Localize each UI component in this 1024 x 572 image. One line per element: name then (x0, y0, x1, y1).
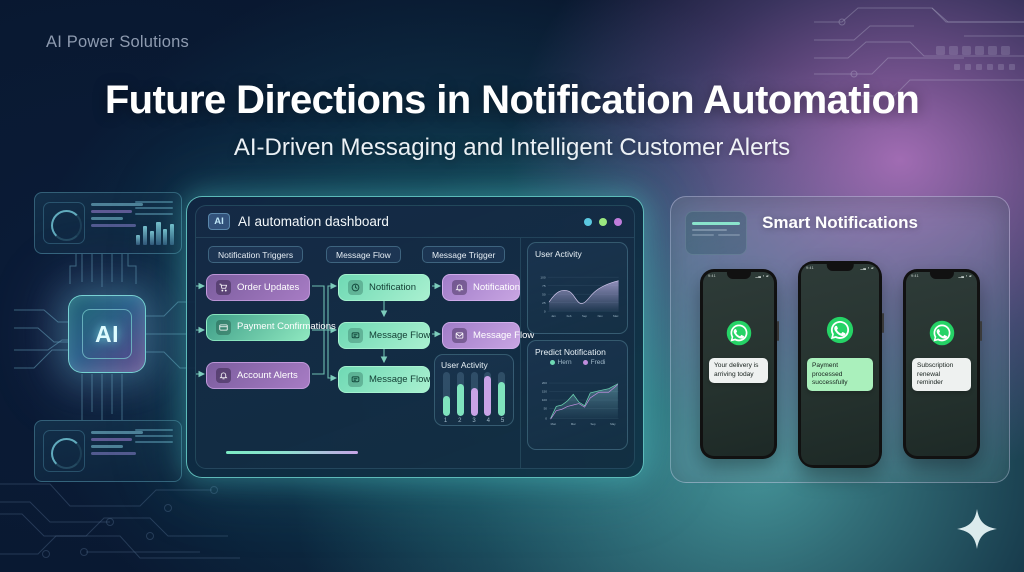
phone-mockup-3: 9:41 ▁▃ ◗ ▰ Subscription renewal reminde… (903, 269, 980, 459)
svg-text:100: 100 (542, 398, 547, 402)
charts-column: User Activity 10075 50250 (520, 238, 634, 468)
node-label: Notification (473, 282, 520, 293)
svg-text:25: 25 (542, 301, 546, 305)
legend-label: Fredi (591, 359, 606, 366)
svg-text:0: 0 (545, 417, 547, 421)
page-title: Future Directions in Notification Automa… (0, 78, 1024, 123)
ai-chip-inner: AI (82, 309, 132, 359)
phone-mockup-1: 9:41 ▁▃ ◗ ▰ Your delivery is arriving to… (700, 269, 777, 459)
phone-mockup-group: 9:41 ▁▃ ◗ ▰ Your delivery is arriving to… (671, 269, 1009, 468)
chat-bubble-icon (348, 328, 363, 343)
four-point-star-icon (956, 508, 998, 550)
analytics-mini-panel-bottom (34, 420, 182, 482)
node-label: Payment Confirmations (237, 322, 336, 333)
phone-screen: 9:41 ▁▃ ◗ ▰ Your delivery is arriving to… (703, 272, 774, 456)
dashboard-progress-bar[interactable] (226, 451, 358, 455)
shopping-cart-icon (216, 280, 231, 295)
list-lines (135, 429, 173, 447)
legend-swatch (550, 360, 555, 365)
chart-title: User Activity (441, 360, 507, 370)
status-time: 9:41 (708, 274, 716, 278)
status-icons: ▁▃ ◗ ▰ (860, 266, 874, 270)
text-line-row (692, 234, 740, 236)
phone-side-button (882, 313, 884, 333)
legend-swatch (583, 360, 588, 365)
envelope-icon (452, 328, 467, 343)
node-label: Message Flow (369, 330, 430, 341)
line-chart-plot: 200150 100500 (535, 367, 620, 443)
svg-text:Sep: Sep (591, 422, 596, 426)
chat-bubble-icon (348, 372, 363, 387)
svg-text:150: 150 (542, 390, 547, 394)
node-label: Notification (369, 282, 416, 293)
ai-processor-chip: AI (68, 295, 146, 373)
window-dot-2[interactable] (599, 218, 607, 226)
svg-text:200: 200 (542, 381, 547, 385)
chart-user-activity-bars: User Activity 1 2 3 4 (434, 354, 514, 426)
eyebrow-label: AI Power Solutions (46, 33, 189, 52)
svg-text:May: May (610, 422, 616, 426)
bar-track (484, 372, 491, 416)
bar-track-group (441, 372, 507, 416)
window-controls[interactable] (584, 218, 622, 226)
status-icons: ▁▃ ◗ ▰ (958, 274, 972, 278)
dashboard-body: Notification Triggers Message Flow Messa… (196, 238, 634, 468)
bar-x-labels: 1 2 3 4 5 (441, 416, 507, 424)
gauge-icon (43, 202, 85, 244)
column-header-notification-triggers[interactable]: Notification Triggers (208, 246, 303, 263)
column-header-message-flow[interactable]: Message Flow (326, 246, 401, 263)
flow-node-message-flow-1[interactable]: Message Flow (338, 322, 430, 349)
chart-title: Predict Notification (535, 347, 620, 357)
svg-text:Mac: Mac (613, 314, 619, 318)
node-label: Order Updates (237, 282, 299, 293)
clock-icon (348, 280, 363, 295)
chart-user-activity-area: User Activity 10075 50250 (527, 242, 628, 334)
svg-text:100: 100 (540, 275, 545, 279)
page-subtitle: AI-Driven Messaging and Intelligent Cust… (0, 134, 1024, 162)
analytics-mini-panel-top (34, 192, 182, 254)
status-icons: ▁▃ ◗ ▰ (755, 274, 769, 278)
whatsapp-icon (725, 319, 753, 347)
notification-bubble: Payment processed successfully (807, 358, 873, 391)
x-tick: 1 (442, 418, 449, 424)
poster-canvas: AI Power Solutions Future Directions in … (0, 0, 1024, 572)
whatsapp-icon (825, 315, 855, 345)
ai-chip-graphic: AI (14, 192, 196, 482)
svg-text:Jan: Jan (551, 314, 556, 318)
credit-card-icon (216, 320, 231, 335)
x-tick: 5 (499, 418, 506, 424)
legend-item-fredi: Fredi (583, 359, 606, 366)
bar-track (498, 372, 505, 416)
whatsapp-icon (928, 319, 956, 347)
trigger-node-payment-confirmations[interactable]: Payment Confirmations (206, 314, 310, 341)
phone-status-bar: 9:41 ▁▃ ◗ ▰ (806, 266, 874, 270)
chart-legend: Hern Fredi (535, 359, 620, 366)
svg-text:Mar: Mar (571, 422, 576, 426)
column-header-message-trigger[interactable]: Message Trigger (422, 246, 505, 263)
x-tick: 2 (456, 418, 463, 424)
bar-track (443, 372, 450, 416)
gauge-icon (43, 430, 85, 472)
x-tick: 3 (471, 418, 478, 424)
bar-track (471, 372, 478, 416)
dashboard-titlebar: AI AI automation dashboard (196, 206, 634, 238)
smart-notifications-title: Smart Notifications (671, 213, 1009, 233)
phone-status-bar: 9:41 ▁▃ ◗ ▰ (708, 274, 769, 278)
flow-node-notification[interactable]: Notification (338, 274, 430, 301)
trigger-node-account-alerts[interactable]: Account Alerts (206, 362, 310, 389)
bell-icon (452, 280, 467, 295)
status-time: 9:41 (911, 274, 919, 278)
area-chart-plot: 10075 50250 (535, 261, 620, 333)
ai-badge: AI (208, 213, 230, 230)
legend-item-hern: Hern (550, 359, 572, 366)
node-label: Message Flow (369, 374, 430, 385)
flow-node-message-flow-2[interactable]: Message Flow (338, 366, 430, 393)
phone-screen: 9:41 ▁▃ ◗ ▰ Payment processed successful… (801, 264, 879, 465)
phone-status-bar: 9:41 ▁▃ ◗ ▰ (911, 274, 972, 278)
bell-icon (216, 368, 231, 383)
x-tick: 4 (485, 418, 492, 424)
node-label: Account Alerts (237, 370, 298, 381)
trigger-out-node-message-flow[interactable]: Message Flow (442, 322, 520, 349)
status-time: 9:41 (806, 266, 814, 270)
ai-chip-label: AI (95, 321, 119, 348)
notification-bubble: Subscription renewal reminder (912, 358, 971, 391)
svg-text:Nov: Nov (598, 314, 604, 318)
svg-text:Feb: Feb (567, 314, 572, 318)
dashboard-title: AI automation dashboard (238, 214, 389, 229)
svg-text:75: 75 (542, 284, 546, 288)
svg-text:0: 0 (544, 309, 546, 313)
mini-bar-chart (136, 219, 174, 245)
legend-label: Hern (558, 359, 572, 366)
automation-flow-area: Notification Triggers Message Flow Messa… (196, 238, 520, 468)
svg-text:50: 50 (542, 292, 546, 296)
phone-screen: 9:41 ▁▃ ◗ ▰ Subscription renewal reminde… (906, 272, 977, 456)
trigger-out-node-notification[interactable]: Notification (442, 274, 520, 301)
dashboard-inner: AI AI automation dashboard Notification … (195, 205, 635, 469)
flow-column-headers: Notification Triggers Message Flow Messa… (204, 246, 514, 263)
list-lines (135, 201, 173, 219)
phone-side-button (777, 321, 779, 341)
phone-mockup-2: 9:41 ▁▃ ◗ ▰ Payment processed successful… (798, 261, 882, 468)
svg-text:50: 50 (544, 407, 548, 411)
window-dot-3[interactable] (614, 218, 622, 226)
ai-automation-dashboard-card: AI AI automation dashboard Notification … (186, 196, 644, 478)
smart-notifications-card: Smart Notifications 9:41 ▁▃ ◗ ▰ Your (670, 196, 1010, 483)
svg-text:Sep: Sep (582, 314, 587, 318)
trigger-node-order-updates[interactable]: Order Updates (206, 274, 310, 301)
notification-bubble: Your delivery is arriving today (709, 358, 768, 382)
bar-track (457, 372, 464, 416)
phone-side-button (980, 321, 982, 341)
chart-predict-notification: Predict Notification Hern Fredi (527, 340, 628, 450)
chart-title: User Activity (535, 249, 620, 259)
svg-text:Man: Man (551, 422, 557, 426)
window-dot-1[interactable] (584, 218, 592, 226)
